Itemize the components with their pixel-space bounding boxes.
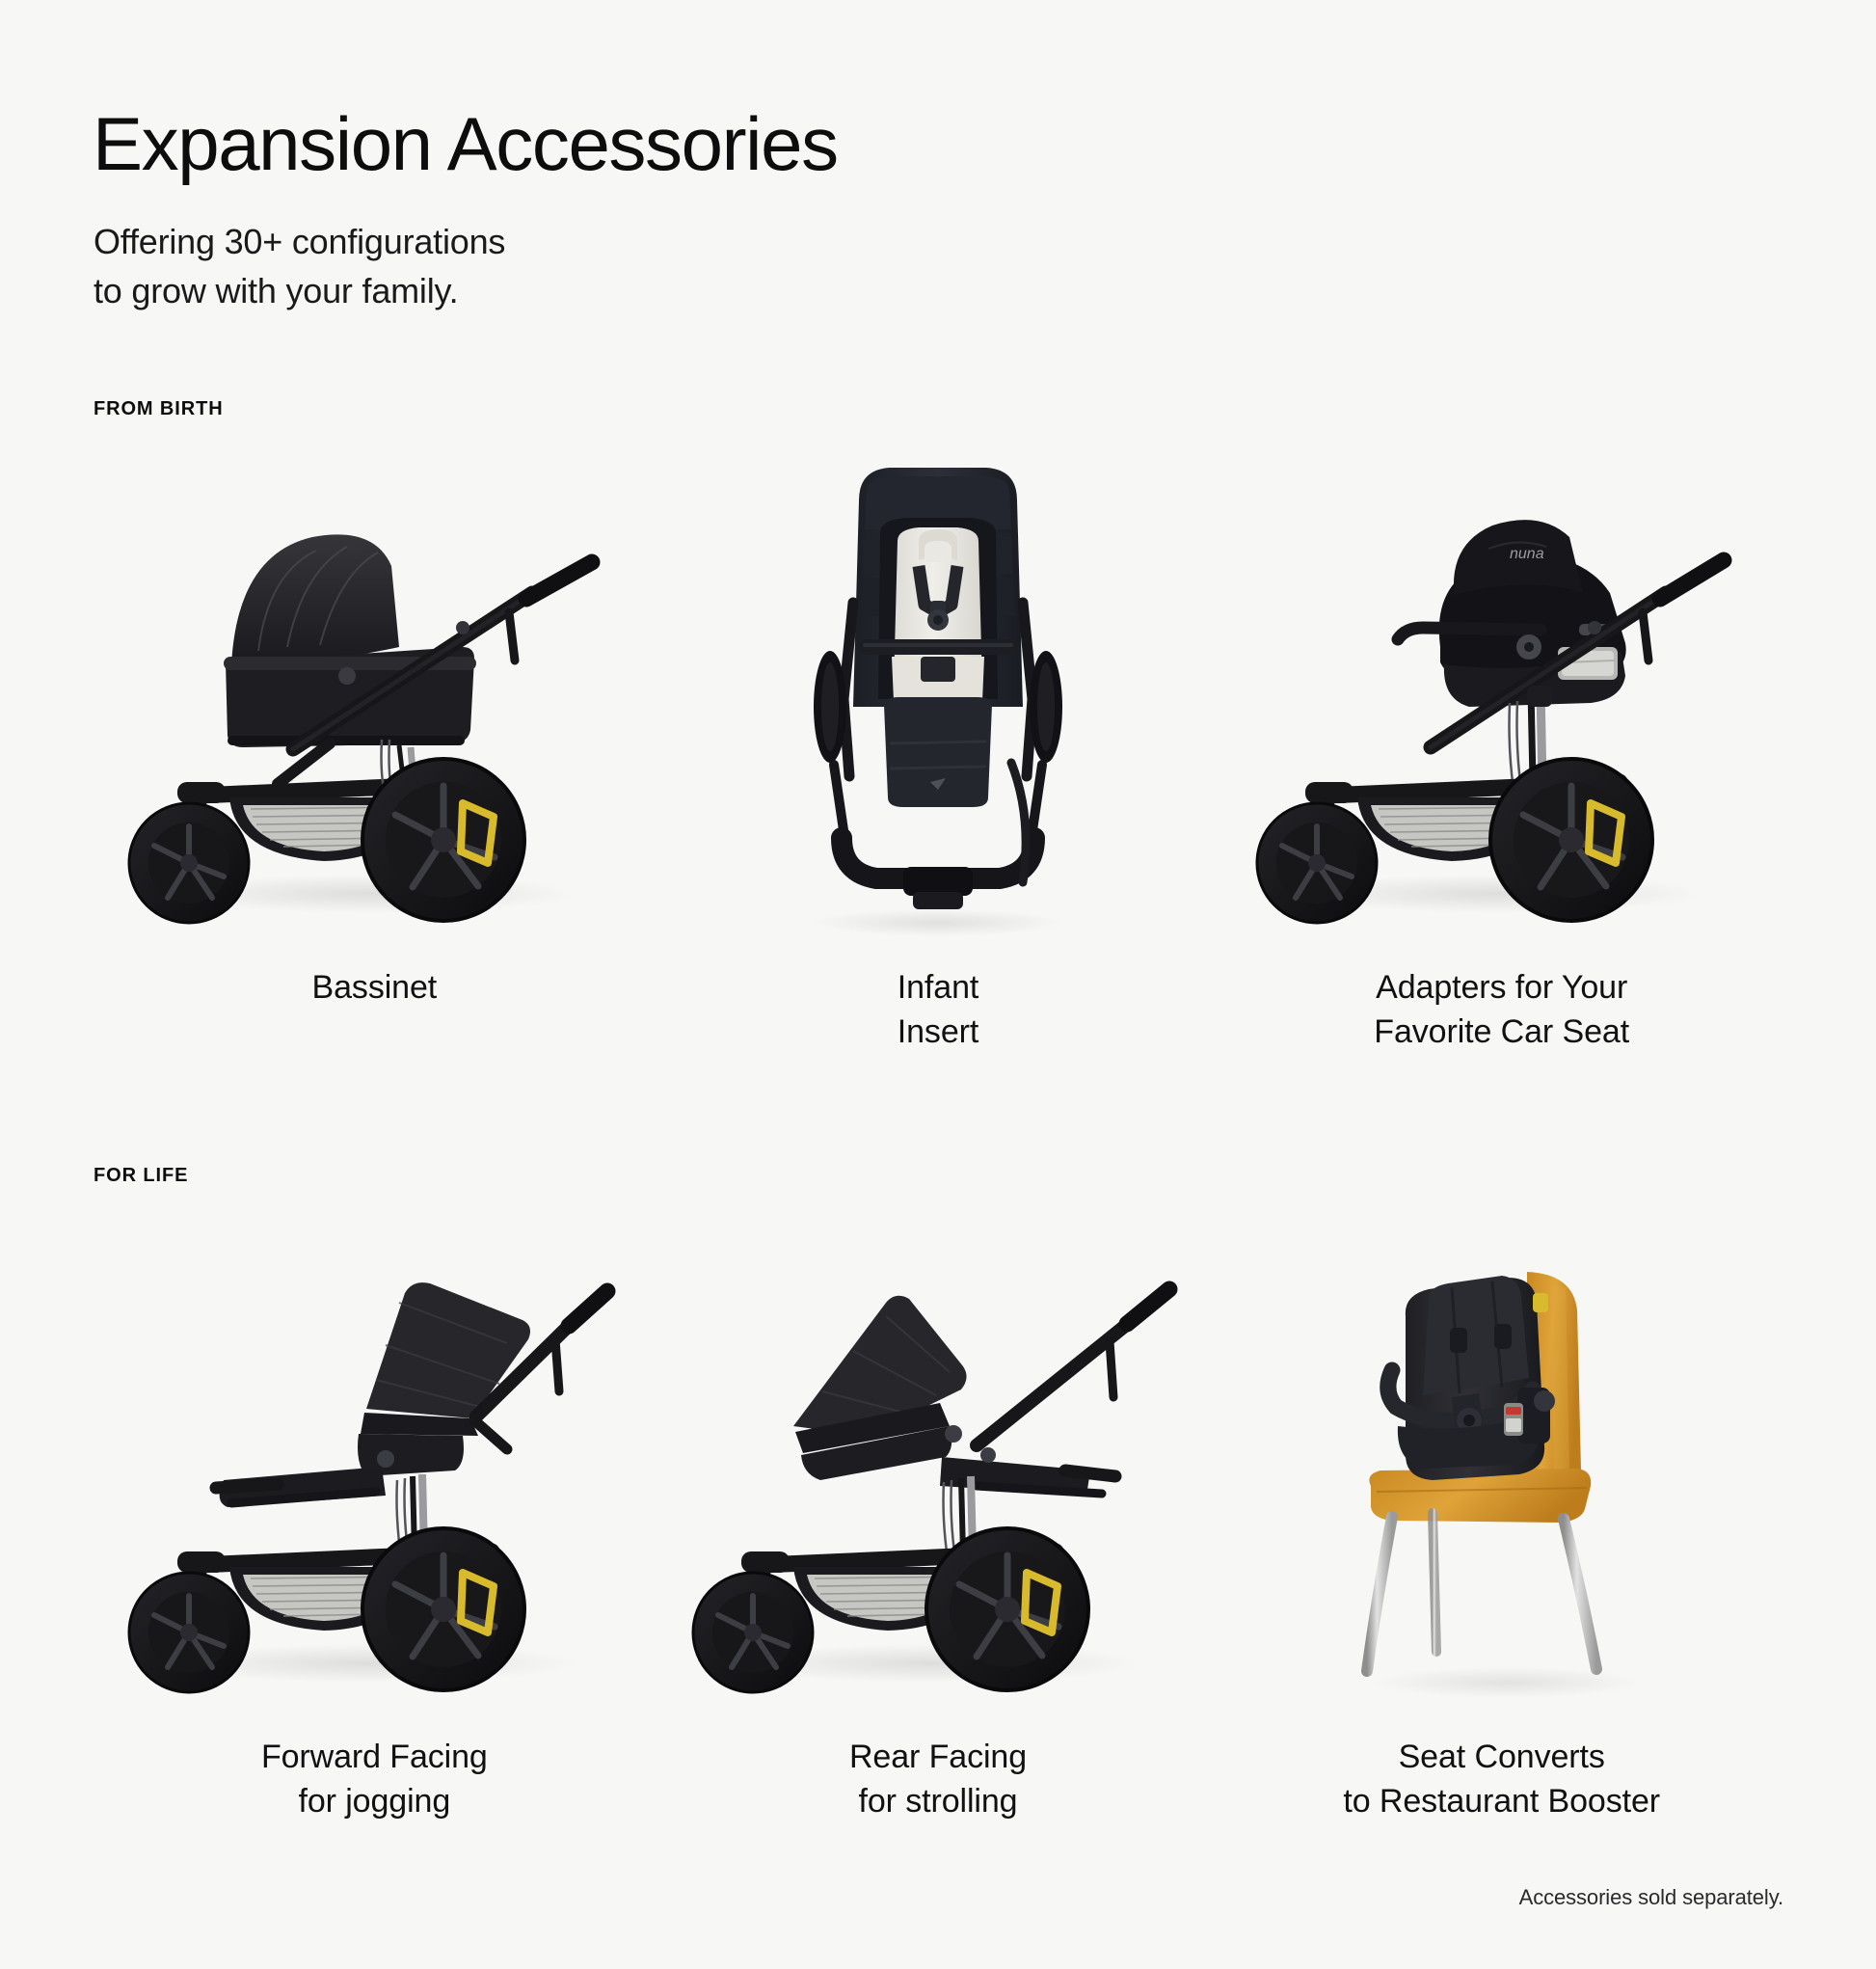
caption-line-1: Seat Converts	[1343, 1736, 1660, 1780]
caption-line-1: Bassinet	[312, 966, 438, 1011]
caption-line-2: to Restaurant Booster	[1343, 1780, 1660, 1824]
product-caption-rear-facing: Rear Facing for strolling	[849, 1736, 1027, 1823]
caption-line-1: Rear Facing	[849, 1736, 1027, 1780]
caption-line-1: Adapters for Your	[1374, 966, 1629, 1011]
product-caption-restaurant-booster: Seat Converts to Restaurant Booster	[1343, 1736, 1660, 1823]
caption-line-1: Forward Facing	[261, 1736, 488, 1780]
footnote-accessories-sold-separately: Accessories sold separately.	[1519, 1885, 1783, 1910]
product-card-car-seat-adapter[interactable]: nuna	[1219, 453, 1783, 1054]
product-card-infant-insert[interactable]: Infant Insert	[657, 453, 1220, 1054]
product-row-for-life: veer	[93, 1223, 1783, 1823]
chair-leg-front-left	[1367, 1517, 1392, 1671]
stroller-rear-facing-image: veer	[657, 1223, 1220, 1714]
section-label-from-birth: FROM BIRTH	[94, 398, 224, 420]
caption-line-2: Insert	[898, 1011, 978, 1055]
seat-on-restaurant-chair-image	[1219, 1223, 1783, 1714]
expansion-accessories-page: Expansion Accessories Offering 30+ confi…	[0, 0, 1876, 1969]
caption-line-1: Infant	[898, 966, 978, 1011]
product-card-bassinet[interactable]: veer	[93, 453, 657, 1054]
stroller-with-car-seat-adapter-image: nuna	[1219, 453, 1783, 945]
booster-yellow-clip	[1533, 1293, 1548, 1312]
nuna-logo-text: nuna	[1510, 546, 1544, 562]
page-title: Expansion Accessories	[93, 106, 838, 181]
section-label-for-life: FOR LIFE	[94, 1165, 188, 1187]
product-card-rear-facing[interactable]: veer	[657, 1223, 1220, 1823]
product-row-from-birth: veer	[93, 453, 1783, 1054]
car-seat-adapter	[1527, 686, 1552, 707]
product-caption-car-seat-adapter: Adapters for Your Favorite Car Seat	[1374, 966, 1629, 1054]
caption-line-2: Favorite Car Seat	[1374, 1011, 1629, 1055]
caption-line-2: for strolling	[849, 1780, 1027, 1824]
product-caption-bassinet: Bassinet	[312, 966, 438, 1011]
chair-leg-back-right	[1564, 1519, 1596, 1669]
caption-line-2: for jogging	[261, 1780, 488, 1824]
page-subtitle-line-1: Offering 30+ configurations	[94, 217, 505, 266]
stroller-forward-facing-image: veer	[93, 1223, 657, 1714]
product-caption-infant-insert: Infant Insert	[898, 966, 978, 1054]
stroller-with-bassinet-image: veer	[93, 453, 657, 945]
chair-leg-back-left	[1433, 1513, 1436, 1652]
page-subtitle: Offering 30+ configurations to grow with…	[94, 217, 505, 315]
page-subtitle-line-2: to grow with your family.	[94, 266, 505, 315]
product-card-restaurant-booster[interactable]: Seat Converts to Restaurant Booster	[1219, 1223, 1783, 1823]
stroller-with-infant-insert-image	[657, 453, 1220, 945]
product-card-forward-facing[interactable]: veer	[93, 1223, 657, 1823]
product-caption-forward-facing: Forward Facing for jogging	[261, 1736, 488, 1823]
